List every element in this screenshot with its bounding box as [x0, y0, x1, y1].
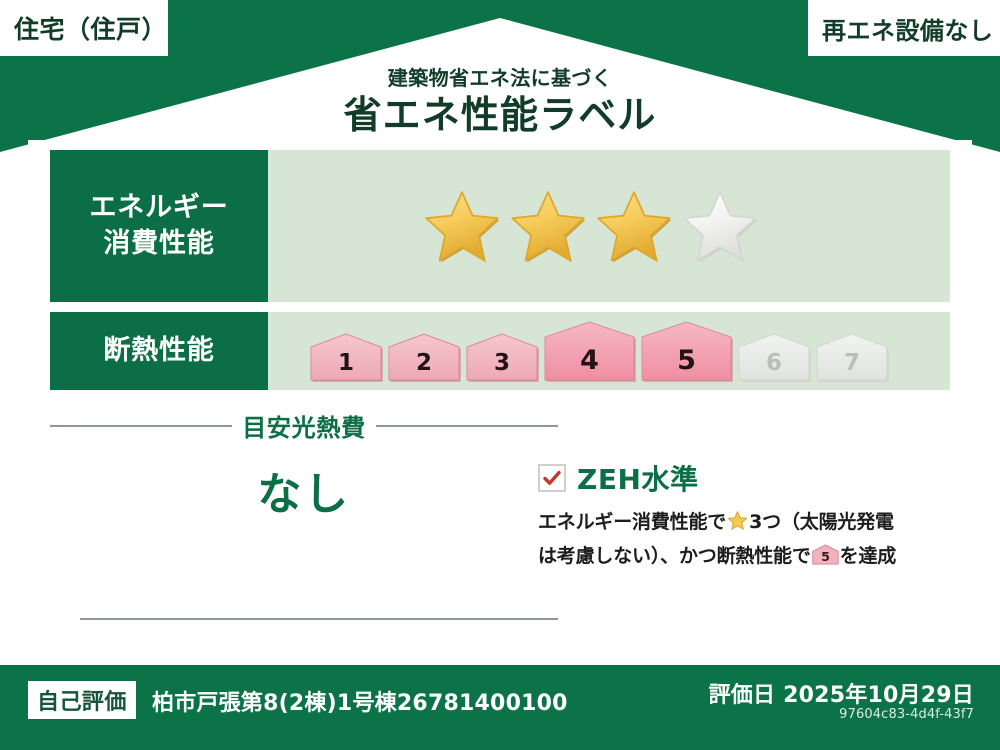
utility-cost-value: なし: [50, 458, 558, 522]
grade-badge-group: 1234567: [309, 320, 889, 382]
evaluation-date: 評価日 2025年10月29日: [709, 677, 974, 709]
zeh-desc-part3: を達成: [840, 545, 896, 567]
grade-house-icon: 5: [812, 544, 839, 575]
star-empty-icon: [681, 187, 759, 265]
grade-number: 4: [543, 345, 636, 376]
grade-number: 2: [387, 350, 461, 376]
building-type-label: 住宅（住戸）: [14, 10, 167, 46]
energy-performance-label: 住宅（住戸） 再エネ設備なし 建築物省エネ法に基づく 省エネ性能ラベル エネルギ…: [0, 0, 1000, 750]
renewable-energy-label: 再エネ設備なし: [822, 11, 993, 46]
utility-cost-bottom-divider: [80, 618, 558, 620]
energy-star-rating: [268, 150, 950, 302]
zeh-description: エネルギー消費性能で 3つ（太陽光発電 は考慮しない）、かつ断熱性能で 5 を達…: [538, 507, 956, 575]
star-icon: [727, 510, 748, 541]
footer: 自己評価 柏市戸張第8(2棟)1号棟26781400100 評価日 2025年1…: [0, 665, 1000, 750]
title-subtitle: 建築物省エネ法に基づく: [0, 62, 1000, 91]
star-filled-icon: [509, 187, 587, 265]
insulation-label-text: 断熱性能: [103, 333, 214, 369]
grade-number: 1: [309, 350, 383, 376]
building-type-badge: 住宅（住戸）: [0, 0, 168, 56]
energy-label-line1: エネルギー: [89, 190, 228, 226]
grade-number: 5: [640, 345, 733, 376]
grade-badge: 3: [465, 332, 539, 382]
zeh-desc-part1: エネルギー消費性能で: [538, 511, 726, 533]
insulation-performance-label: 断熱性能: [50, 312, 268, 390]
grade-number: 3: [465, 350, 539, 376]
insulation-grade-scale: 1234567: [268, 312, 950, 390]
grade-badge: 4: [543, 320, 636, 382]
insulation-performance-row: 断熱性能 1234567: [50, 312, 950, 390]
divider-right: [376, 425, 558, 427]
zeh-title: ZEH水準: [577, 458, 699, 498]
grade-badge: 2: [387, 332, 461, 382]
utility-cost-title: 目安光熱費: [242, 408, 366, 443]
renewable-energy-badge: 再エネ設備なし: [808, 0, 1000, 56]
grade-badge: 5: [640, 320, 733, 382]
energy-performance-label: エネルギー 消費性能: [50, 150, 268, 302]
energy-performance-row: エネルギー 消費性能: [50, 150, 950, 302]
zeh-desc-part2: は考慮しない）、かつ断熱性能で: [538, 545, 811, 567]
star-filled-icon: [423, 187, 501, 265]
checkbox-checked-icon: [538, 464, 566, 492]
grade-badge: 6: [737, 332, 811, 382]
svg-text:5: 5: [821, 549, 830, 564]
zeh-desc-stars: 3つ（太陽光発電: [749, 511, 894, 533]
grade-badge: 7: [815, 332, 889, 382]
utility-cost-header: 目安光熱費: [50, 408, 558, 443]
self-evaluation-badge: 自己評価: [28, 681, 136, 719]
grade-number: 7: [815, 350, 889, 376]
building-name: 柏市戸張第8(2棟)1号棟26781400100: [152, 685, 568, 717]
page-title: 省エネ性能ラベル: [0, 95, 1000, 137]
zeh-block: ZEH水準 エネルギー消費性能で 3つ（太陽光発電 は考慮しない）、かつ断熱性能…: [538, 458, 956, 575]
grade-number: 6: [737, 350, 811, 376]
zeh-header: ZEH水準: [538, 458, 956, 498]
energy-label-line2: 消費性能: [103, 226, 214, 262]
title-block: 建築物省エネ法に基づく 省エネ性能ラベル: [0, 62, 1000, 137]
grade-badge: 1: [309, 332, 383, 382]
divider-left: [50, 425, 232, 427]
star-filled-icon: [595, 187, 673, 265]
evaluation-id: 97604c83-4d4f-43f7: [839, 707, 974, 722]
star-rating-group: [423, 187, 759, 265]
content-panel: エネルギー 消費性能 断熱性能 1234567 目安光熱費 なし: [28, 140, 972, 665]
